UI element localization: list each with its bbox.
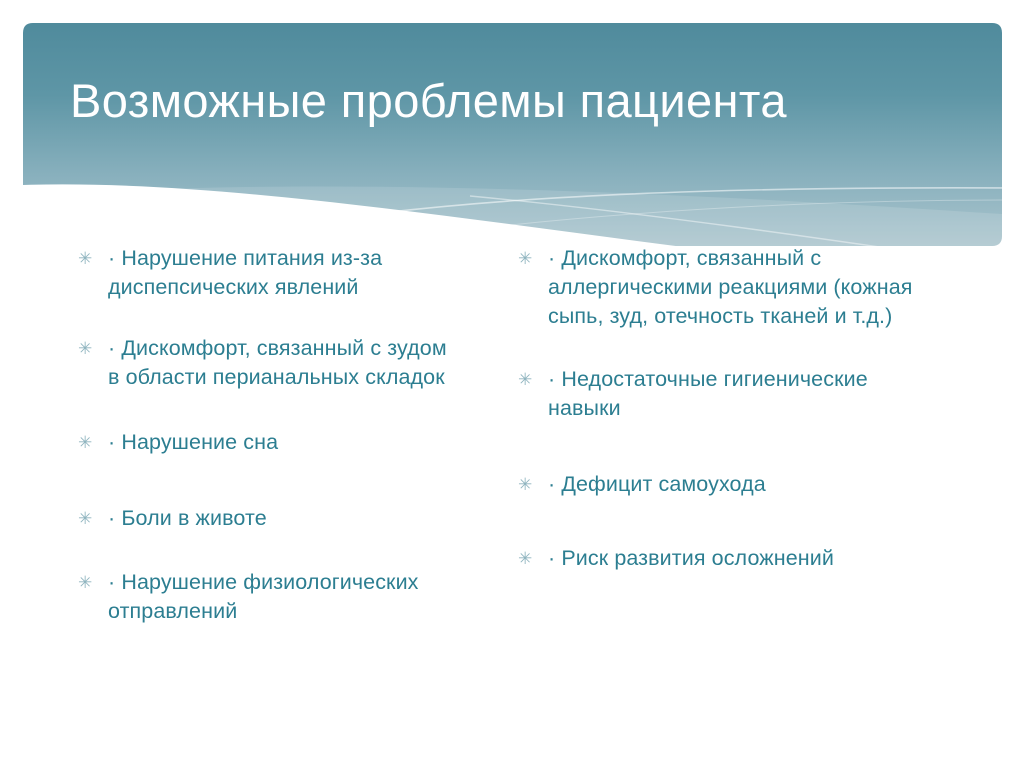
slide-title: Возможные проблемы пациента	[70, 74, 980, 128]
bullet-text: · Дискомфорт, связанный с зудом в област…	[108, 334, 460, 392]
bullet-text: · Дискомфорт, связанный с аллергическими…	[548, 244, 918, 331]
asterisk-bullet-icon: ✳	[78, 334, 108, 364]
bullet-text: · Дефицит самоухода	[548, 470, 918, 499]
asterisk-bullet-icon: ✳	[518, 544, 548, 574]
bullet-text: · Боли в животе	[108, 504, 460, 533]
asterisk-bullet-icon: ✳	[78, 244, 108, 274]
asterisk-bullet-icon: ✳	[518, 244, 548, 274]
list-item[interactable]: ✳ · Нарушение сна	[78, 428, 460, 458]
bullet-column-right: ✳ · Дискомфорт, связанный с аллергически…	[518, 244, 918, 604]
bullet-text: · Риск развития осложнений	[548, 544, 918, 573]
list-item[interactable]: ✳ · Дефицит самоухода	[518, 470, 918, 500]
list-item[interactable]: ✳ · Риск развития осложнений	[518, 544, 918, 574]
asterisk-bullet-icon: ✳	[78, 568, 108, 598]
list-item[interactable]: ✳ · Нарушение физиологических отправлени…	[78, 568, 460, 626]
bullet-text: · Нарушение питания из-за диспепсических…	[108, 244, 460, 302]
list-item[interactable]: ✳ · Дискомфорт, связанный с зудом в обла…	[78, 334, 460, 392]
list-item[interactable]: ✳ · Нарушение питания из-за диспепсическ…	[78, 244, 460, 302]
asterisk-bullet-icon: ✳	[518, 470, 548, 500]
bullet-column-left: ✳ · Нарушение питания из-за диспепсическ…	[78, 244, 460, 656]
list-item[interactable]: ✳ · Дискомфорт, связанный с аллергически…	[518, 244, 918, 331]
presentation-slide: Возможные проблемы пациента ✳ · Нарушени…	[0, 0, 1024, 767]
asterisk-bullet-icon: ✳	[78, 428, 108, 458]
bullet-text: · Нарушение физиологических отправлений	[108, 568, 460, 626]
asterisk-bullet-icon: ✳	[518, 365, 548, 395]
bullet-text: · Недостаточные гигиенические навыки	[548, 365, 918, 423]
bullet-text: · Нарушение сна	[108, 428, 460, 457]
asterisk-bullet-icon: ✳	[78, 504, 108, 534]
list-item[interactable]: ✳ · Боли в животе	[78, 504, 460, 534]
list-item[interactable]: ✳ · Недостаточные гигиенические навыки	[518, 365, 918, 423]
slide-body: ✳ · Нарушение питания из-за диспепсическ…	[0, 244, 1024, 744]
